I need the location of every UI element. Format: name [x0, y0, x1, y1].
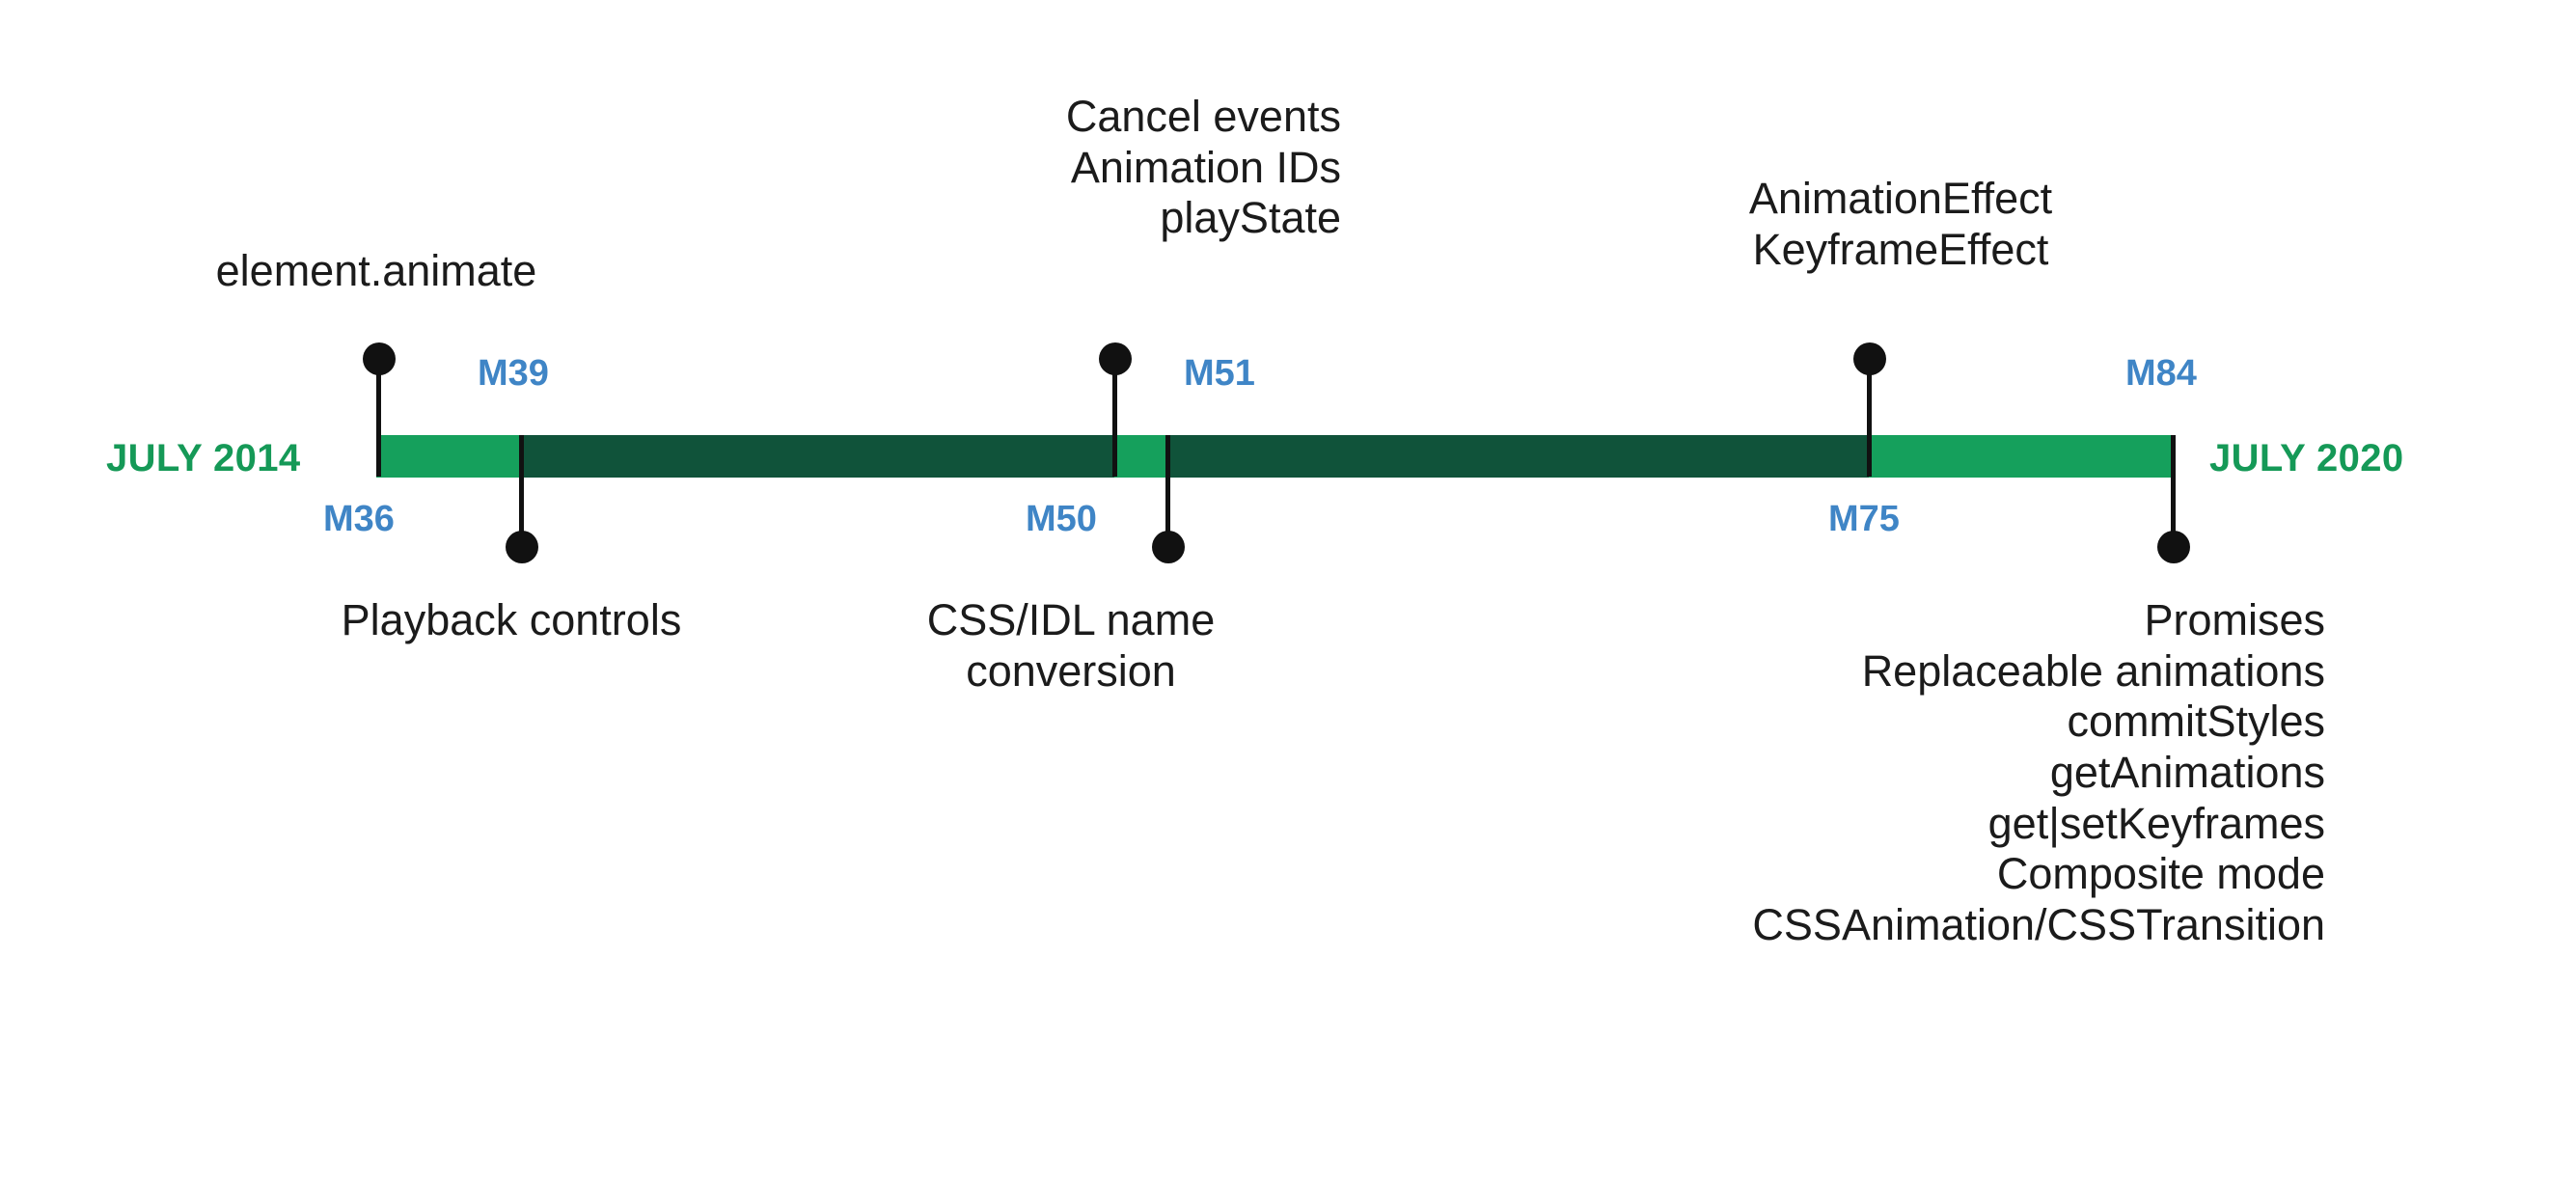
annotation-line: KeyframeEffect — [1418, 225, 2383, 276]
annotation-line: Promises — [1235, 595, 2325, 646]
milestone-label-m39: M39 — [478, 355, 549, 392]
annotation-line: Cancel events — [579, 92, 1341, 143]
marker-stem — [519, 435, 524, 538]
marker-dot — [506, 531, 538, 563]
timeline-segment-m51-m75 — [1167, 435, 1869, 478]
annotation-line: Animation IDs — [579, 143, 1341, 194]
annotation-line: Composite mode — [1235, 849, 2325, 900]
marker-stem — [376, 373, 381, 477]
marker-dot — [1853, 342, 1886, 375]
annotation-m36-features: element.animate — [77, 246, 675, 297]
marker-stem — [1165, 435, 1170, 538]
marker-dot — [363, 342, 396, 375]
timeline-end-label: JULY 2020 — [2209, 439, 2404, 478]
timeline-segment-m50-m51 — [1114, 435, 1167, 478]
annotation-line: get|setKeyframes — [1235, 799, 2325, 850]
annotation-line: playState — [579, 193, 1341, 244]
annotation-line: getAnimations — [1235, 748, 2325, 799]
annotation-line: element.animate — [77, 246, 675, 297]
annotation-m84-features: Promises Replaceable animations commitSt… — [1235, 595, 2325, 950]
timeline-segment-m75-m84 — [1869, 435, 2173, 478]
marker-dot — [1099, 342, 1132, 375]
milestone-label-m75: M75 — [1828, 501, 1900, 537]
timeline-segment-m39-m50 — [521, 435, 1114, 478]
timeline-segment-m36-m39 — [376, 435, 521, 478]
annotation-line: Replaceable animations — [1235, 646, 2325, 698]
milestone-label-m36: M36 — [323, 501, 395, 537]
annotation-m50-features: Cancel events Animation IDs playState — [579, 92, 1341, 244]
milestone-label-m84: M84 — [2125, 355, 2197, 392]
marker-dot — [1152, 531, 1185, 563]
marker-stem — [1867, 373, 1872, 477]
timeline-diagram: JULY 2014 JULY 2020 M36 M39 M50 M51 M75 … — [0, 0, 2576, 1204]
marker-stem — [1112, 373, 1117, 477]
annotation-line: AnimationEffect — [1418, 174, 2383, 225]
annotation-line: CSSAnimation/CSSTransition — [1235, 900, 2325, 951]
timeline-start-label: JULY 2014 — [106, 439, 301, 478]
timeline-bar — [376, 435, 2173, 478]
annotation-m75-features: AnimationEffect KeyframeEffect — [1418, 174, 2383, 275]
annotation-line: commitStyles — [1235, 697, 2325, 748]
milestone-label-m51: M51 — [1184, 355, 1255, 392]
marker-stem — [2171, 435, 2176, 538]
milestone-label-m50: M50 — [1026, 501, 1097, 537]
marker-dot — [2157, 531, 2190, 563]
